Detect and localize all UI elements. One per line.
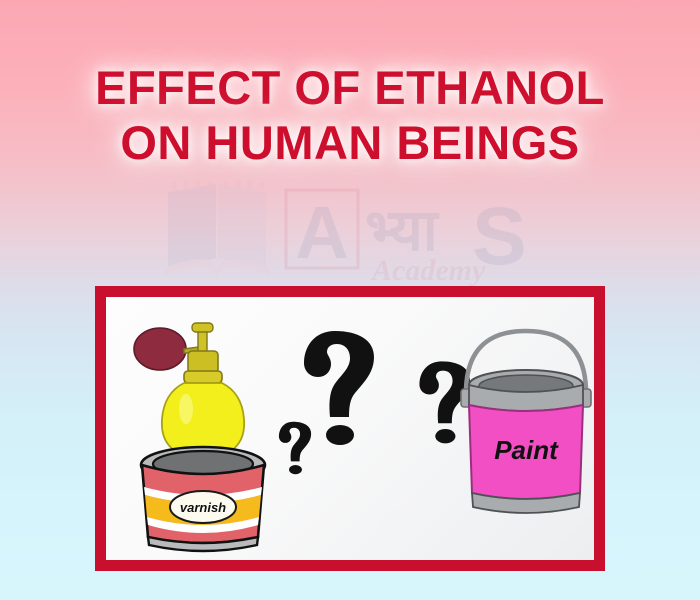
illustration-canvas: varnish [106, 297, 594, 560]
open-book-icon [164, 180, 270, 281]
paint-label: Paint [494, 435, 559, 465]
abhyas-academy-watermark: A भ्या S Academy [160, 178, 550, 293]
watermark-script-academy: Academy [370, 254, 486, 287]
varnish-can-icon: varnish [141, 447, 265, 551]
page-title: EFFECT OF ETHANOL ON HUMAN BEINGS [0, 60, 700, 170]
watermark-letter-a: A [286, 190, 358, 274]
varnish-label: varnish [180, 500, 226, 515]
svg-text:A: A [295, 191, 348, 274]
svg-text:भ्या: भ्या [365, 198, 440, 263]
question-marks-icon [279, 331, 470, 474]
illustration-frame: varnish [95, 286, 605, 571]
watermark-devanagari: भ्या [365, 198, 440, 263]
watermark-letter-s: S [472, 191, 527, 282]
svg-text:S: S [472, 191, 527, 282]
paint-bucket-icon: Paint [461, 331, 591, 513]
title-line-1: EFFECT OF ETHANOL [0, 60, 700, 115]
svg-text:Academy: Academy [370, 254, 486, 287]
slide-canvas: A भ्या S Academy EFFECT OF ETHANOL ON HU… [0, 0, 700, 600]
title-line-2: ON HUMAN BEINGS [0, 115, 700, 170]
